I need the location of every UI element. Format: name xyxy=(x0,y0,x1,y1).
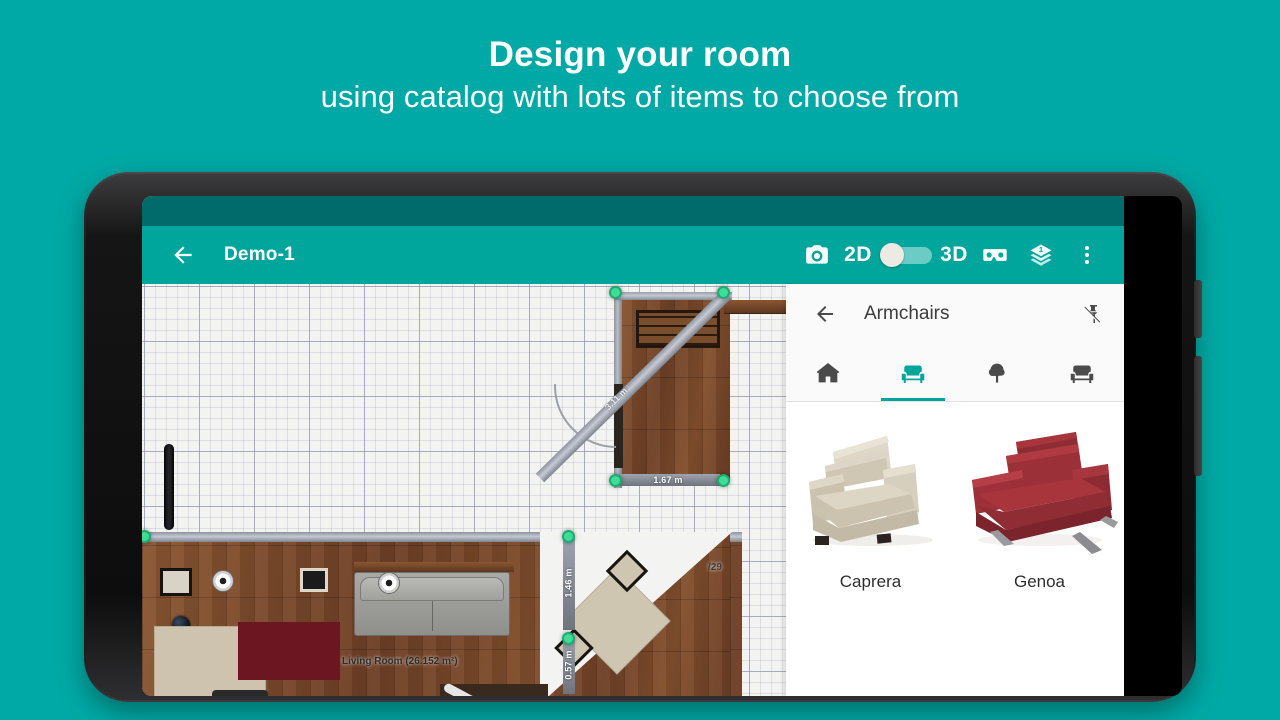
phone-device-frame: Demo-1 2D 3D xyxy=(84,172,1196,702)
back-button[interactable] xyxy=(164,236,202,274)
view-mode-toggle[interactable] xyxy=(880,243,932,267)
status-bar xyxy=(142,196,1124,226)
product-name: Genoa xyxy=(1014,572,1065,592)
tab-furniture[interactable] xyxy=(871,344,956,401)
product-thumbnail xyxy=(960,412,1120,562)
power-button[interactable] xyxy=(1194,356,1202,476)
catalog-back-button[interactable] xyxy=(808,297,842,331)
media-cabinet-item[interactable] xyxy=(212,690,268,696)
selection-handle[interactable] xyxy=(609,474,622,487)
tab-building[interactable] xyxy=(786,344,871,401)
product-card[interactable]: Caprera xyxy=(786,406,955,696)
app-toolbar: Demo-1 2D 3D xyxy=(142,226,1124,284)
catalog-title: Armchairs xyxy=(864,303,1076,325)
svg-text:1: 1 xyxy=(1039,245,1043,254)
promo-headline-line2: using catalog with lots of items to choo… xyxy=(0,75,1280,120)
phone-screen-bezel: Demo-1 2D 3D xyxy=(142,196,1182,696)
tab-indicator xyxy=(1050,398,1114,401)
selection-handle[interactable] xyxy=(562,632,575,645)
toolbar-actions: 2D 3D xyxy=(794,232,1110,278)
camera-icon[interactable] xyxy=(794,232,840,278)
catalog-product-grid: Caprera xyxy=(786,402,1124,696)
selection-handle[interactable] xyxy=(717,474,730,487)
view-3d-label[interactable]: 3D xyxy=(936,232,972,278)
selection-handle[interactable] xyxy=(717,286,730,299)
wall-trim xyxy=(354,562,514,572)
view-2d-label[interactable]: 2D xyxy=(840,232,876,278)
project-title: Demo-1 xyxy=(224,244,295,266)
ceiling-light-item[interactable] xyxy=(212,570,234,592)
black-box-item[interactable] xyxy=(300,568,328,592)
ceiling-light-item[interactable] xyxy=(378,572,400,594)
earpiece-speaker xyxy=(164,444,174,530)
rug-red-item[interactable] xyxy=(238,622,340,680)
catalog-header: Armchairs xyxy=(786,284,1124,344)
layers-icon[interactable]: 1 xyxy=(1018,232,1064,278)
dimension-right-partial: /29 xyxy=(708,562,722,573)
dimension-left-wall: 1.46 m xyxy=(563,536,575,630)
volume-button[interactable] xyxy=(1194,280,1202,338)
promo-screenshot: Design your room using catalog with lots… xyxy=(0,0,1280,720)
selection-handle[interactable] xyxy=(609,286,622,299)
selection-handle[interactable] xyxy=(562,530,575,543)
promo-headline: Design your room using catalog with lots… xyxy=(0,34,1280,120)
tab-indicator xyxy=(881,398,945,401)
tab-outdoor[interactable] xyxy=(955,344,1040,401)
promo-headline-line1: Design your room xyxy=(0,34,1280,75)
product-name: Caprera xyxy=(840,572,901,592)
tab-sofas[interactable] xyxy=(1040,344,1125,401)
product-thumbnail xyxy=(791,412,951,562)
toggle-knob xyxy=(880,243,904,267)
tab-indicator xyxy=(796,398,860,401)
app-screen: Demo-1 2D 3D xyxy=(142,196,1124,696)
product-card[interactable]: Genoa xyxy=(955,406,1124,696)
vr-goggles-icon[interactable] xyxy=(972,232,1018,278)
pin-off-icon[interactable] xyxy=(1076,297,1110,331)
side-table-item[interactable] xyxy=(160,568,192,596)
catalog-panel: Armchairs xyxy=(786,284,1124,696)
tab-indicator xyxy=(965,398,1029,401)
room-area-label: Living Room (26.152 m²) xyxy=(342,656,458,667)
dimension-top-room-width: 1.67 m xyxy=(616,474,720,486)
overflow-dots xyxy=(1085,246,1089,264)
overflow-menu-icon[interactable] xyxy=(1064,232,1110,278)
catalog-tabs xyxy=(786,344,1124,402)
